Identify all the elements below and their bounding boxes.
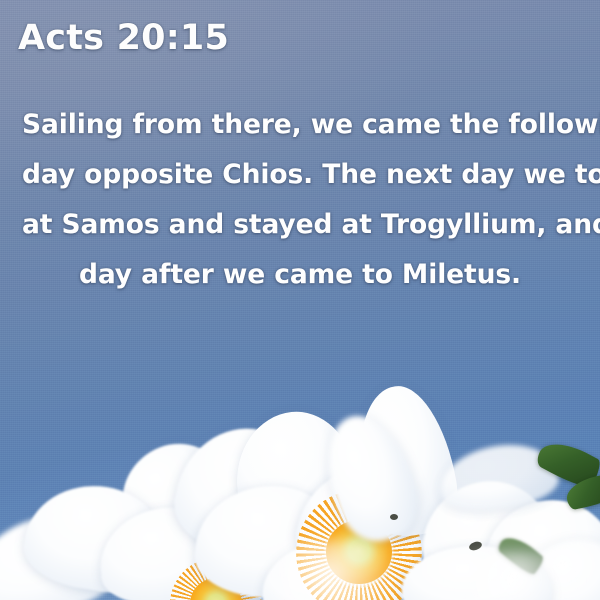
verse-line: at Samos and stayed at Trogyllium, and t… xyxy=(22,200,578,250)
verse-text-block: Sailing from there, we came the followin… xyxy=(22,100,578,300)
verse-reference-title: Acts 20:15 xyxy=(18,18,229,58)
verse-image-card: Acts 20:15 Sailing from there, we came t… xyxy=(0,0,600,600)
verse-line: day after we came to Miletus. xyxy=(22,250,578,300)
verse-line: Sailing from there, we came the followin… xyxy=(22,100,578,150)
verse-line: day opposite Chios. The next day we touc… xyxy=(22,150,578,200)
sky-grain-texture xyxy=(0,0,600,600)
